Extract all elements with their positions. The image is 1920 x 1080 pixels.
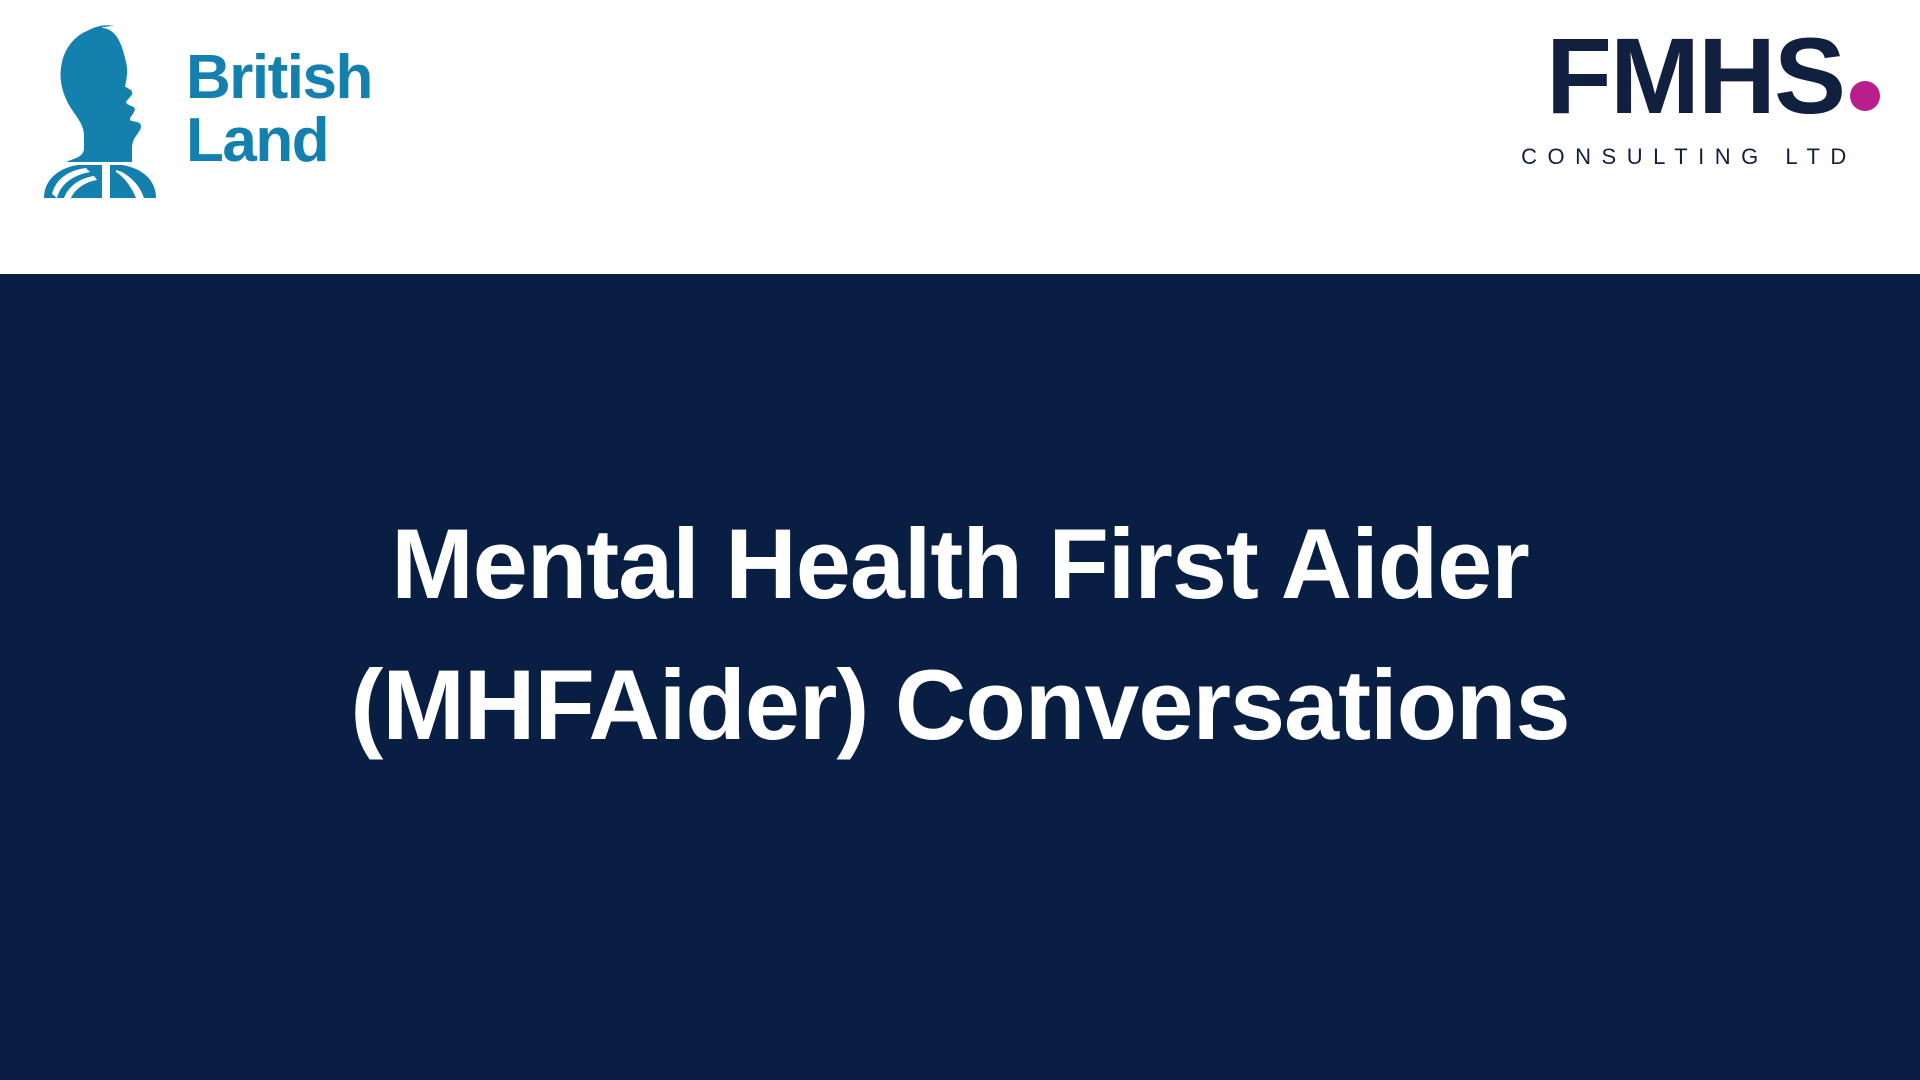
- british-land-wordmark: British Land: [186, 18, 372, 172]
- fmhs-main-row: FMHS: [1484, 22, 1884, 130]
- british-land-word-line-1: British: [186, 48, 372, 109]
- fmhs-subtitle: CONSULTING LTD: [1484, 144, 1884, 170]
- header-band: British Land FMHS CONSULTING LTD: [0, 0, 1920, 274]
- fmhs-magenta-dot-icon: [1850, 81, 1880, 111]
- british-land-word-line-2: Land: [186, 111, 372, 172]
- britannia-head-icon: [36, 22, 164, 198]
- slide-title: Mental Health First Aider (MHFAider) Con…: [160, 494, 1760, 775]
- fmhs-consulting-logo: FMHS CONSULTING LTD: [1484, 22, 1884, 192]
- slide-title-line-2: (MHFAider) Conversations: [160, 635, 1760, 776]
- british-land-logo: British Land: [36, 18, 456, 208]
- fmhs-wordmark: FMHS: [1484, 22, 1884, 130]
- title-slide: British Land FMHS CONSULTING LTD Mental …: [0, 0, 1920, 1080]
- title-band: Mental Health First Aider (MHFAider) Con…: [0, 274, 1920, 1080]
- slide-title-line-1: Mental Health First Aider: [160, 494, 1760, 635]
